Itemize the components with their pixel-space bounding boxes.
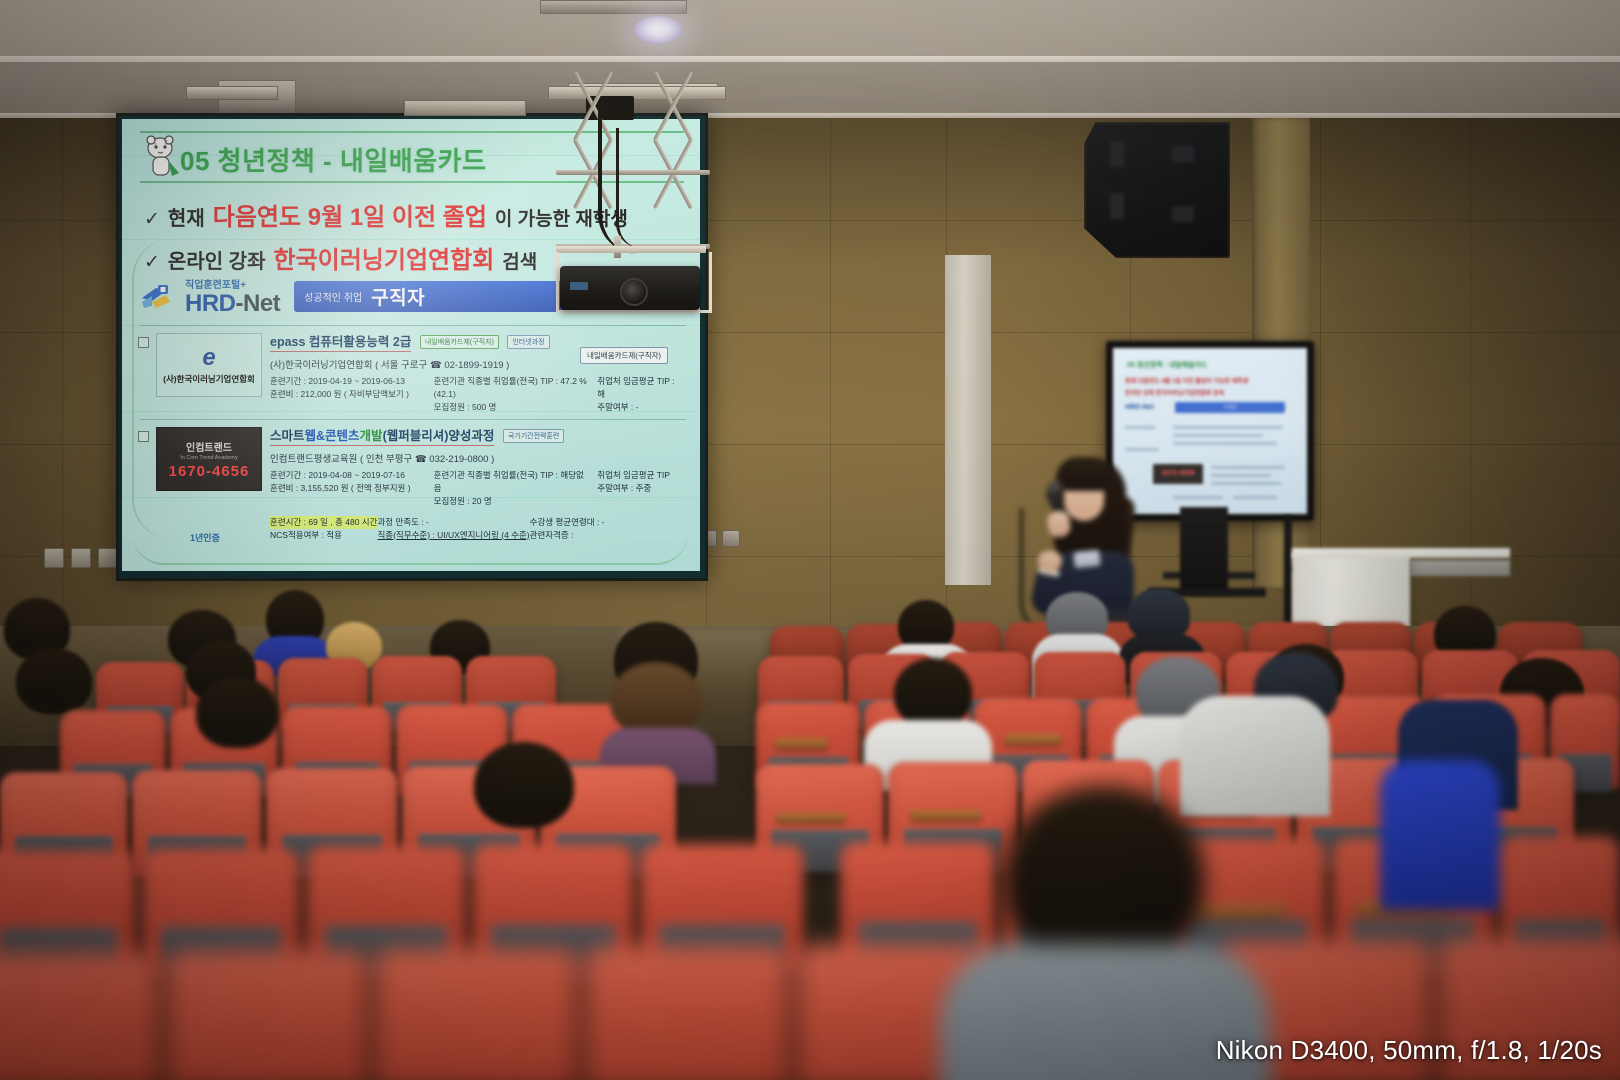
course-foot-left: 훈련시간 : 69 일 , 총 480 시간 NCS적용여부 : 적용 (270, 516, 377, 542)
course-result-row[interactable]: e (사)한국이러닝기업연합회 epass 컴퓨터활용능력 2급 내일배움카드제… (138, 331, 690, 427)
bullet-highlight: 다음연도 9월 1일 이전 졸업 (213, 197, 487, 232)
course-satisfaction: 과정 만족도 : - (377, 516, 529, 529)
course-col-right: 취업처 임금평균 TIP 주말여부 : 주중 (597, 469, 690, 509)
year-certification-badge: 1년인증 (190, 531, 220, 544)
course-hours: 훈련시간 : 69 일 , 총 480 시간 (270, 516, 377, 529)
course-col-mid: 훈련기관 직종별 취업률(전국) TIP : 47.2 % (42.1) 모집정… (434, 375, 598, 415)
monitor-title: 05 청년정책 - 내일배움카드 (1127, 360, 1207, 370)
ceiling-projector (560, 266, 700, 310)
course-col-left: 훈련기간 : 2019-04-08 ~ 2019-07-16 훈련비 : 3,1… (270, 469, 434, 509)
wall-pillar (945, 255, 991, 585)
monitor-provider-badge: 1670-4656 (1153, 464, 1203, 484)
lectern-shelf (1410, 560, 1510, 576)
check-icon: ✓ (144, 208, 160, 231)
course-fee: 훈련비 : 212,000 원 ( 자비부담액보기 ) (270, 388, 428, 401)
check-icon: ✓ (144, 251, 160, 274)
course-weekend: 주말여부 : 주중 (597, 482, 684, 495)
course-title[interactable]: 스마트웹&콘텐츠개발(웹퍼블리셔)양성과정 (270, 425, 494, 446)
seat (584, 946, 790, 1080)
wall-power-outlets (44, 548, 118, 568)
course-provider-logo: 인컴트랜드 In Com Trend Academy 1670-4656 (156, 427, 262, 491)
elearning-e-icon: e (202, 346, 215, 370)
course-avg-wage: 취업처 임금평균 TIP : 해 (597, 375, 684, 401)
monitor-hrd-label: HRD-Net (1125, 404, 1154, 411)
auditorium-photo: 05 청년정책 - 내일배움카드 ✓ 현재 다음연도 9월 1일 이전 졸업 이… (0, 0, 1620, 1080)
bullet-lead: 현재 (168, 202, 205, 231)
bullet-tail: 검색 (502, 247, 537, 274)
course-avg-age: 수강생 평균연령대 : - (530, 516, 605, 529)
course-col-mid: 훈련기관 직종별 취업률(전국) TIP : 해당없음 모집정원 : 20 명 (434, 469, 598, 509)
provider-phone: 1670-4656 (169, 463, 250, 480)
shirt-collar (1073, 550, 1101, 569)
lift-top-plate (404, 100, 526, 116)
armrest (910, 810, 982, 821)
course-foot-right: 수강생 평균연령대 : - 관련자격증 : (530, 516, 605, 542)
wall-speaker (1084, 122, 1230, 258)
course-ncs: NCS적용여부 : 적용 (270, 529, 377, 542)
armrest (1004, 734, 1062, 745)
provider-sub-label: In Com Trend Academy (180, 455, 237, 461)
course-period: 훈련기간 : 2019-04-19 ~ 2019-06-13 (270, 375, 428, 388)
search-lead-label: 성공적인 취업 (304, 289, 362, 304)
armrest (1190, 904, 1286, 917)
course-tag-online: 인터넷과정 (507, 335, 549, 349)
course-tag-national: 국가기간전략훈련 (503, 429, 565, 443)
bullet-highlight: 한국이러닝기업연합회 (273, 240, 494, 275)
course-fee: 훈련비 : 3,155,520 원 ( 전액 정부지원 ) (270, 482, 428, 495)
ceiling-air-vent (540, 0, 687, 14)
monitor-provider-phone: 1670-4656 (1153, 464, 1203, 484)
course-capacity: 모집정원 : 500 명 (434, 401, 592, 414)
course-title-p4: (웹퍼블리셔)양성과정 (383, 429, 495, 443)
camera-info-watermark: Nikon D3400, 50mm, f/1.8, 1/20s (1216, 1035, 1602, 1066)
bullet-lead: 온라인 강좌 (168, 245, 266, 274)
hair-front (1056, 457, 1112, 491)
course-capacity: 모집정원 : 20 명 (434, 495, 592, 508)
course-employment-rate: 훈련기관 직종별 취업률(전국) TIP : 해당없음 (434, 469, 592, 495)
course-foot-mid: 과정 만족도 : - 직종(직무수준) : UI/UX엔지니어링 (4 수준) (377, 516, 529, 542)
hrdnet-brand-hrd: HRD (185, 290, 236, 317)
monitor-search-bar: 구직자 (1175, 402, 1285, 413)
monitor-line-2: 온라인 강좌 한국이러닝기업연합회 검색 (1125, 388, 1224, 397)
hrdnet-mark-icon (140, 282, 178, 310)
monitor-line-1: 현재 다음연도 9월 1일 이전 졸업이 가능한 재학생 (1125, 376, 1248, 385)
course-job-level: 직종(직무수준) : UI/UX엔지니어링 (4 수준) (377, 529, 529, 542)
course-provider-logo: e (사)한국이러닝기업연합회 (156, 333, 262, 397)
projector-lens-icon (620, 278, 648, 306)
search-main-label: 구직자 (371, 283, 425, 310)
armrest (776, 812, 846, 823)
provider-brand-label: 인컴트랜드 (186, 439, 232, 454)
beanie-hat (1128, 588, 1190, 640)
course-title-main: 컴퓨터활용능력 2급 (309, 335, 411, 349)
seat (374, 948, 578, 1080)
shoulders (1180, 696, 1330, 816)
course-result-row[interactable]: 인컴트랜드 In Com Trend Academy 1670-4656 스마트… (138, 425, 690, 565)
projector-cable (616, 128, 641, 248)
course-title-prefix: epass (270, 335, 309, 349)
monitor-stand (1180, 507, 1228, 593)
course-weekend: 주말여부 : - (597, 401, 684, 414)
course-certificates: 관련자격증 : (530, 529, 605, 542)
shoulders (1380, 760, 1500, 910)
ceiling-mount-bracket (186, 86, 278, 100)
course-employment-rate: 훈련기관 직종별 취업률(전국) TIP : 47.2 % (42.1) (434, 375, 592, 401)
course-tag-card: 내일배움카드제(구직자) (420, 335, 499, 349)
seat (166, 950, 368, 1080)
course-checkbox[interactable] (138, 431, 149, 442)
course-checkbox[interactable] (138, 337, 149, 348)
seat (0, 952, 160, 1080)
microphone-head (1048, 481, 1064, 495)
provider-name-label: (사)한국이러닝기업연합회 (163, 373, 255, 385)
auditorium-seating (0, 600, 1620, 1080)
course-avg-wage: 취업처 임금평균 TIP (597, 469, 684, 482)
course-title-p1: 스마트 (270, 429, 305, 443)
course-tooltip: 내일배움카드제(구직자) (580, 347, 668, 364)
course-title-p2: 웹&콘텐츠 (305, 429, 360, 443)
course-period: 훈련기간 : 2019-04-08 ~ 2019-07-16 (270, 469, 428, 482)
tiger-mascot-icon (138, 134, 186, 182)
hrdnet-logo: 직업훈련포털+ HRD-Net (140, 276, 280, 316)
hrdnet-brand-net: -Net (236, 290, 281, 317)
lectern-top (1292, 548, 1510, 558)
ceiling (0, 0, 1620, 62)
armrest (774, 738, 828, 749)
course-title[interactable]: epass 컴퓨터활용능력 2급 (270, 331, 411, 352)
course-organization: 인컴트랜드평생교육원 ( 인천 부평구 ☎ 032-219-0800 ) (270, 451, 690, 465)
recessed-downlight (634, 16, 682, 44)
course-col-left: 훈련기간 : 2019-04-19 ~ 2019-06-13 훈련비 : 212… (270, 375, 434, 415)
projector-badge (570, 282, 588, 290)
course-col-right: 취업처 임금평균 TIP : 해 주말여부 : - (597, 375, 690, 415)
course-title-p3: 개발 (360, 429, 383, 443)
